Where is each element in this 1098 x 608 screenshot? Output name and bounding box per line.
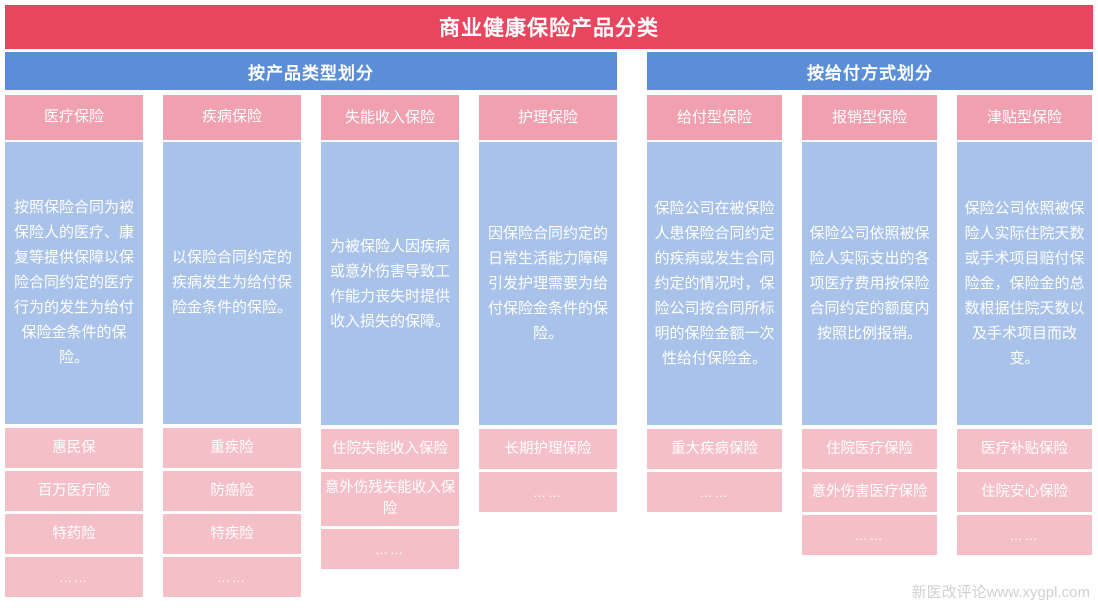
card-description: 保险公司在被保险人患保险合同约定的疾病或发生合同约定的情况时，保险公司按合同所标… — [647, 142, 782, 425]
product-list: 长期护理保险 …… — [479, 429, 617, 515]
list-item[interactable]: 重疾险 — [163, 428, 301, 468]
card-header: 护理保险 — [479, 95, 617, 140]
card-header: 给付型保险 — [647, 95, 782, 140]
list-item[interactable]: 特药险 — [5, 514, 143, 554]
group-by-payout-type: 给付型保险 保险公司在被保险人患保险合同约定的疾病或发生合同约定的情况时，保险公… — [647, 95, 1093, 600]
list-item-more[interactable]: …… — [163, 557, 301, 597]
section-divider-gap — [617, 52, 647, 90]
card-description: 为被保险人因疾病或意外伤害导致工作能力丧失时提供收入损失的保障。 — [321, 142, 459, 425]
list-item[interactable]: 意外伤害医疗保险 — [802, 472, 937, 512]
list-item[interactable]: 特疾险 — [163, 514, 301, 554]
card-header: 医疗保险 — [5, 95, 143, 140]
column-reimbursement-insurance: 报销型保险 保险公司依照被保险人实际支出的各项医疗费用按保险合同约定的额度内按照… — [802, 95, 937, 600]
list-item-more[interactable]: …… — [321, 529, 459, 569]
product-list: 重疾险 防癌险 特疾险 …… — [163, 428, 301, 600]
list-item-more[interactable]: …… — [647, 472, 782, 512]
main-title-bar: 商业健康保险产品分类 — [5, 5, 1093, 49]
card-header: 失能收入保险 — [321, 95, 459, 140]
columns-area: 医疗保险 按照保险合同为被保险人的医疗、康复等提供保障以保险合同约定的医疗行为的… — [5, 95, 1093, 600]
list-item[interactable]: 重大疾病保险 — [647, 429, 782, 469]
group-by-product-type: 医疗保险 按照保险合同为被保险人的医疗、康复等提供保障以保险合同约定的医疗行为的… — [5, 95, 617, 600]
product-list: 住院失能收入保险 意外伤残失能收入保险 …… — [321, 429, 459, 572]
card-description: 以保险合同约定的疾病发生为给付保险金条件的保险。 — [163, 142, 301, 424]
column-disability-income-insurance: 失能收入保险 为被保险人因疾病或意外伤害导致工作能力丧失时提供收入损失的保障。 … — [321, 95, 459, 600]
list-item[interactable]: 医疗补贴保险 — [957, 429, 1092, 469]
page-title: 商业健康保险产品分类 — [439, 12, 659, 42]
group-divider-gap — [617, 95, 647, 600]
list-item-more[interactable]: …… — [802, 515, 937, 555]
list-item-more[interactable]: …… — [957, 515, 1092, 555]
product-list: 医疗补贴保险 住院安心保险 …… — [957, 429, 1092, 558]
section-header-row: 按产品类型划分 按给付方式划分 — [5, 52, 1093, 90]
list-item[interactable]: 百万医疗险 — [5, 471, 143, 511]
card-description: 因保险合同约定的日常生活能力障碍引发护理需要为给付保险金条件的保险。 — [479, 142, 617, 425]
section-header-label: 按产品类型划分 — [248, 59, 374, 84]
product-list: 住院医疗保险 意外伤害医疗保险 …… — [802, 429, 937, 558]
list-item[interactable]: 惠民保 — [5, 428, 143, 468]
card-header: 疾病保险 — [163, 95, 301, 140]
watermark: 新医改评论www.xygpl.com — [912, 581, 1090, 602]
column-medical-insurance: 医疗保险 按照保险合同为被保险人的医疗、康复等提供保障以保险合同约定的医疗行为的… — [5, 95, 143, 600]
card-header: 报销型保险 — [802, 95, 937, 140]
column-nursing-care-insurance: 护理保险 因保险合同约定的日常生活能力障碍引发护理需要为给付保险金条件的保险。 … — [479, 95, 617, 600]
card-description: 保险公司依照被保险人实际住院天数或手术项目赔付保险金，保险金的总数根据住院天数以… — [957, 142, 1092, 425]
section-header-by-payout-type: 按给付方式划分 — [647, 52, 1093, 90]
product-list: 惠民保 百万医疗险 特药险 …… — [5, 428, 143, 600]
section-header-by-product-type: 按产品类型划分 — [5, 52, 617, 90]
list-item[interactable]: 长期护理保险 — [479, 429, 617, 469]
column-benefit-payout-insurance: 给付型保险 保险公司在被保险人患保险合同约定的疾病或发生合同约定的情况时，保险公… — [647, 95, 782, 600]
column-allowance-insurance: 津贴型保险 保险公司依照被保险人实际住院天数或手术项目赔付保险金，保险金的总数根… — [957, 95, 1092, 600]
infographic-page: 商业健康保险产品分类 按产品类型划分 按给付方式划分 医疗保险 按照保险合同为被… — [0, 0, 1098, 608]
list-item-more[interactable]: …… — [5, 557, 143, 597]
column-disease-insurance: 疾病保险 以保险合同约定的疾病发生为给付保险金条件的保险。 重疾险 防癌险 特疾… — [163, 95, 301, 600]
card-header: 津贴型保险 — [957, 95, 1092, 140]
list-item[interactable]: 住院安心保险 — [957, 472, 1092, 512]
card-description: 保险公司依照被保险人实际支出的各项医疗费用按保险合同约定的额度内按照比例报销。 — [802, 142, 937, 425]
section-header-label: 按给付方式划分 — [807, 59, 933, 84]
list-item[interactable]: 防癌险 — [163, 471, 301, 511]
list-item-more[interactable]: …… — [479, 472, 617, 512]
list-item[interactable]: 住院医疗保险 — [802, 429, 937, 469]
card-description: 按照保险合同为被保险人的医疗、康复等提供保障以保险合同约定的医疗行为的发生为给付… — [5, 142, 143, 424]
list-item[interactable]: 住院失能收入保险 — [321, 429, 459, 469]
list-item[interactable]: 意外伤残失能收入保险 — [321, 472, 459, 526]
product-list: 重大疾病保险 …… — [647, 429, 782, 515]
